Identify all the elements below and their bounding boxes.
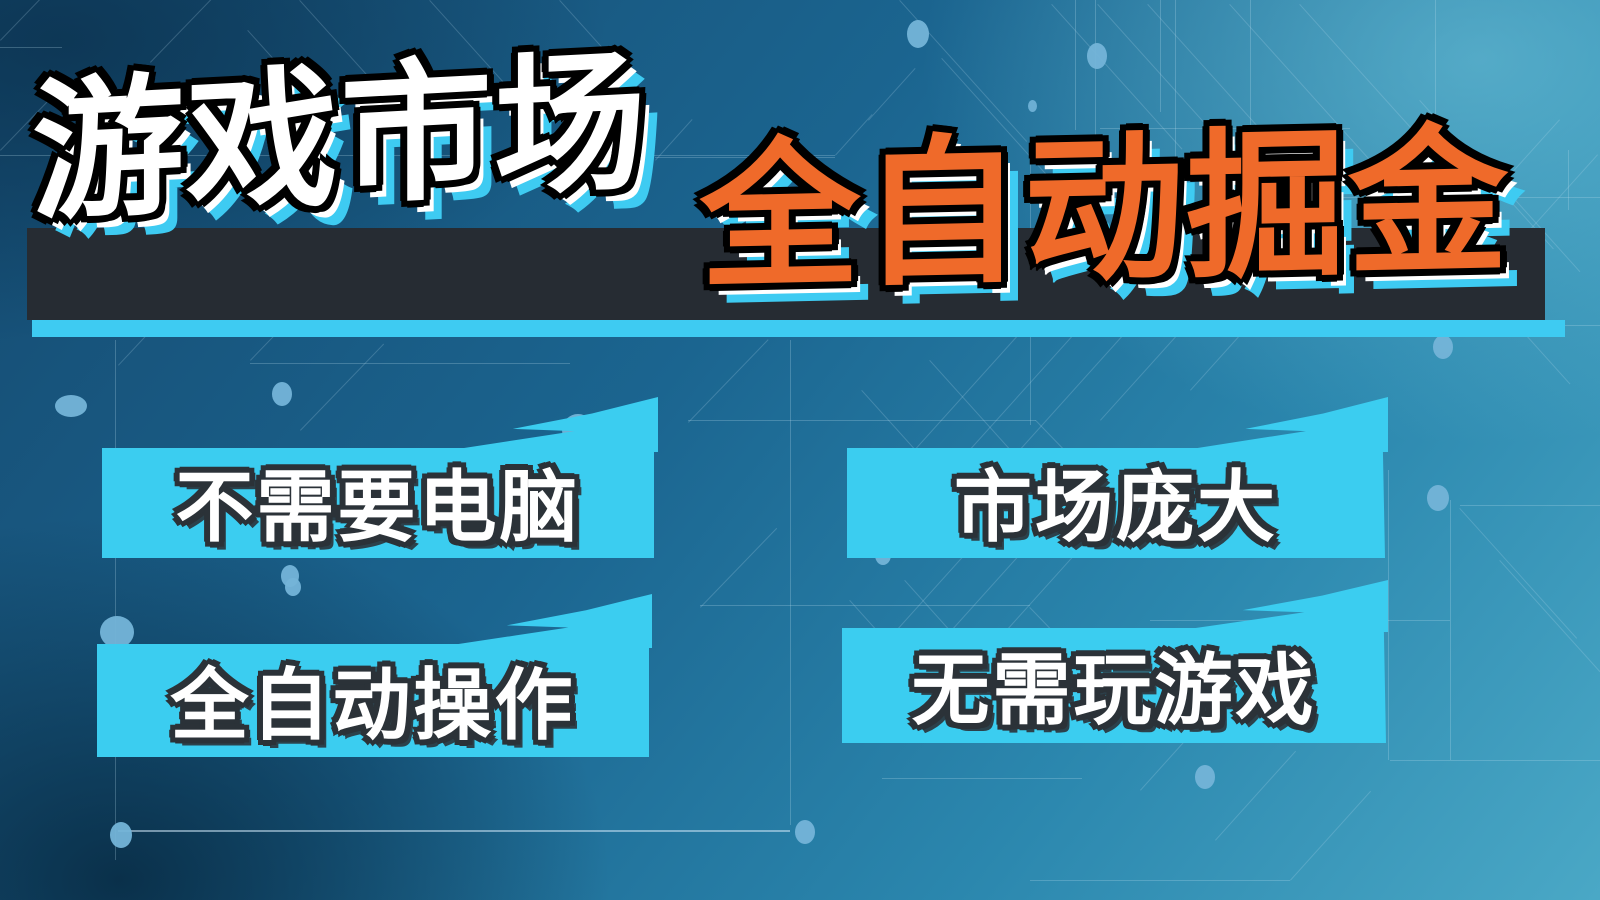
circuit-trace [250,363,570,364]
feature-label: 市场庞大 [847,445,1385,557]
circuit-trace [1215,751,1296,841]
circuit-node [110,822,132,848]
feature-label: 全自动操作 [97,642,649,754]
headline-group: 游戏市场 全自动掘金 [0,0,1600,340]
feature-label: 不需要电脑 [102,445,654,557]
circuit-trace [882,778,1082,779]
circuit-trace [688,339,769,422]
circuit-node [55,395,87,417]
circuit-trace [1499,560,1600,672]
circuit-node [272,382,292,406]
circuit-trace [1460,505,1600,506]
feature-box-full-auto: 全自动操作 [97,644,649,757]
feature-box-huge-market: 市场庞大 [847,448,1385,558]
circuit-trace [700,528,777,608]
circuit-trace [1030,880,1290,881]
feature-box-no-play: 无需玩游戏 [842,628,1386,743]
circuit-trace [1388,470,1389,760]
circuit-node [795,820,815,844]
circuit-trace [115,340,116,860]
circuit-trace [700,605,1030,606]
circuit-trace [1290,791,1371,881]
circuit-trace [118,830,790,832]
feature-label: 无需玩游戏 [842,627,1386,739]
circuit-trace [790,340,791,825]
circuit-trace [1450,500,1451,760]
circuit-trace [1390,760,1600,761]
headline-primary: 游戏市场 [32,46,648,230]
circuit-trace [1459,508,1577,639]
poster-canvas: 游戏市场 全自动掘金 不需要电脑 市场庞大 全自动操作 无需玩游戏 [0,0,1600,900]
headline-secondary: 全自动掘金 [700,122,1510,299]
circuit-node [285,578,301,596]
circuit-trace [300,344,384,431]
circuit-node [1427,485,1449,511]
feature-box-no-computer: 不需要电脑 [102,448,654,558]
circuit-node [1195,765,1215,789]
